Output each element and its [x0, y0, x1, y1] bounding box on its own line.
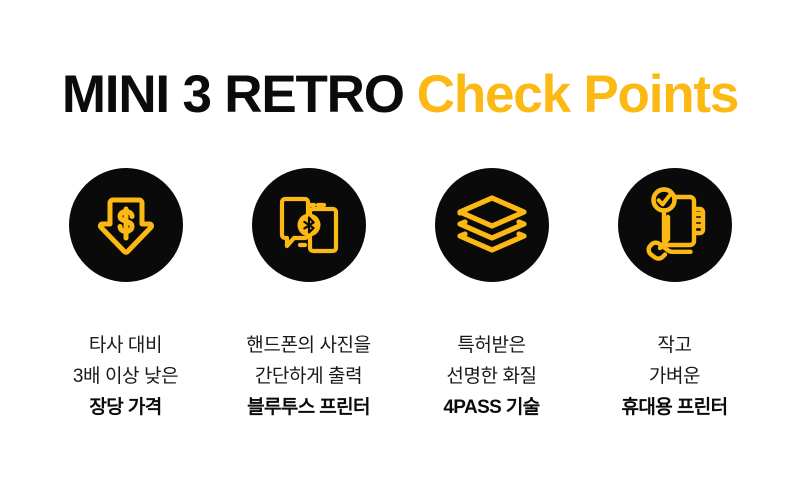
icon-circle-bluetooth	[252, 168, 366, 282]
icon-circle-price	[69, 168, 183, 282]
caption-line-1: 작고	[622, 330, 728, 361]
feature-item-layers: 특허받은 선명한 화질 4PASS 기술	[434, 168, 549, 423]
caption-line-2: 간단하게 출력	[246, 361, 370, 392]
caption-line-1: 타사 대비	[73, 330, 178, 361]
icon-circle-layers	[435, 168, 549, 282]
caption-line-1: 특허받은	[443, 330, 539, 361]
caption-line-3: 장당 가격	[73, 392, 178, 423]
caption-line-3: 블루투스 프린터	[246, 392, 370, 423]
feature-caption-portable: 작고 가벼운 휴대용 프린터	[622, 330, 728, 423]
page-title: MINI 3 RETROCheck Points	[0, 68, 800, 121]
caption-line-1: 핸드폰의 사진을	[246, 330, 370, 361]
price-drop-arrow-icon	[91, 190, 161, 260]
page-title-accent: Check Points	[417, 65, 738, 124]
stacked-layers-icon	[454, 190, 530, 260]
feature-item-bluetooth: 핸드폰의 사진을 간단하게 출력 블루투스 프린터	[251, 168, 366, 423]
check-points-poster: MINI 3 RETROCheck Points 타사 대비 3배 이상 낮은 …	[0, 0, 800, 494]
feature-item-price: 타사 대비 3배 이상 낮은 장당 가격	[68, 168, 183, 423]
feature-caption-bluetooth: 핸드폰의 사진을 간단하게 출력 블루투스 프린터	[246, 330, 370, 423]
caption-line-3: 4PASS 기술	[443, 392, 539, 423]
bluetooth-phone-printer-icon	[273, 189, 345, 261]
feature-columns: 타사 대비 3배 이상 낮은 장당 가격	[0, 168, 800, 423]
caption-line-2: 가벼운	[622, 361, 728, 392]
caption-line-2: 3배 이상 낮은	[73, 361, 178, 392]
icon-circle-portable	[618, 168, 732, 282]
page-title-main: MINI 3 RETRO	[62, 65, 404, 124]
feature-item-portable: 작고 가벼운 휴대용 프린터	[617, 168, 732, 423]
caption-line-2: 선명한 화질	[443, 361, 539, 392]
hand-holding-printer-check-icon	[639, 187, 711, 263]
feature-caption-layers: 특허받은 선명한 화질 4PASS 기술	[443, 330, 539, 423]
caption-line-3: 휴대용 프린터	[622, 392, 728, 423]
feature-caption-price: 타사 대비 3배 이상 낮은 장당 가격	[73, 330, 178, 423]
